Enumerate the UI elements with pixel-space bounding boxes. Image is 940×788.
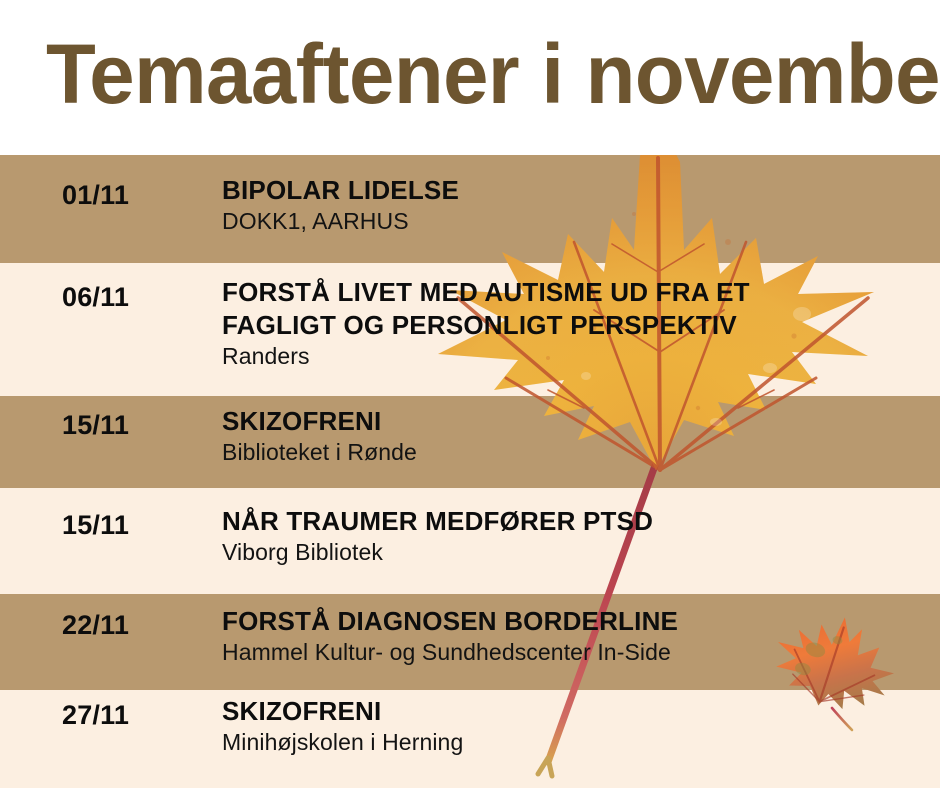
event-venue: Randers	[222, 342, 922, 371]
event-details: SKIZOFRENI Biblioteket i Rønde	[222, 405, 922, 467]
event-title: BIPOLAR LIDELSE	[222, 174, 922, 207]
event-title: SKIZOFRENI	[222, 405, 922, 438]
event-date: 27/11	[62, 699, 129, 731]
event-details: NÅR TRAUMER MEDFØRER PTSD Viborg Bibliot…	[222, 505, 922, 567]
event-date: 06/11	[62, 281, 129, 313]
event-venue: DOKK1, AARHUS	[222, 207, 922, 236]
event-venue: Hammel Kultur- og Sundhedscenter In-Side	[222, 638, 922, 667]
event-details: FORSTÅ LIVET MED AUTISME UD FRA ET FAGLI…	[222, 276, 922, 371]
event-title: FORSTÅ DIAGNOSEN BORDERLINE	[222, 605, 922, 638]
event-title: SKIZOFRENI	[222, 695, 922, 728]
event-venue: Viborg Bibliotek	[222, 538, 922, 567]
poster-canvas: Temaaftener i november 01/11 BIPOLAR LID…	[0, 0, 940, 788]
event-details: SKIZOFRENI Minihøjskolen i Herning	[222, 695, 922, 757]
event-title: FORSTÅ LIVET MED AUTISME UD FRA ET	[222, 276, 922, 309]
event-date: 22/11	[62, 609, 129, 641]
poster-header: Temaaftener i november	[0, 0, 940, 155]
event-venue: Minihøjskolen i Herning	[222, 728, 922, 757]
event-details: FORSTÅ DIAGNOSEN BORDERLINE Hammel Kultu…	[222, 605, 922, 667]
event-title-line2: FAGLIGT OG PERSONLIGT PERSPEKTIV	[222, 309, 922, 342]
event-title: NÅR TRAUMER MEDFØRER PTSD	[222, 505, 922, 538]
event-details: BIPOLAR LIDELSE DOKK1, AARHUS	[222, 174, 922, 236]
event-date: 01/11	[62, 179, 129, 211]
event-date: 15/11	[62, 509, 129, 541]
event-date: 15/11	[62, 409, 129, 441]
page-title: Temaaftener i november	[46, 26, 880, 122]
event-venue: Biblioteket i Rønde	[222, 438, 922, 467]
